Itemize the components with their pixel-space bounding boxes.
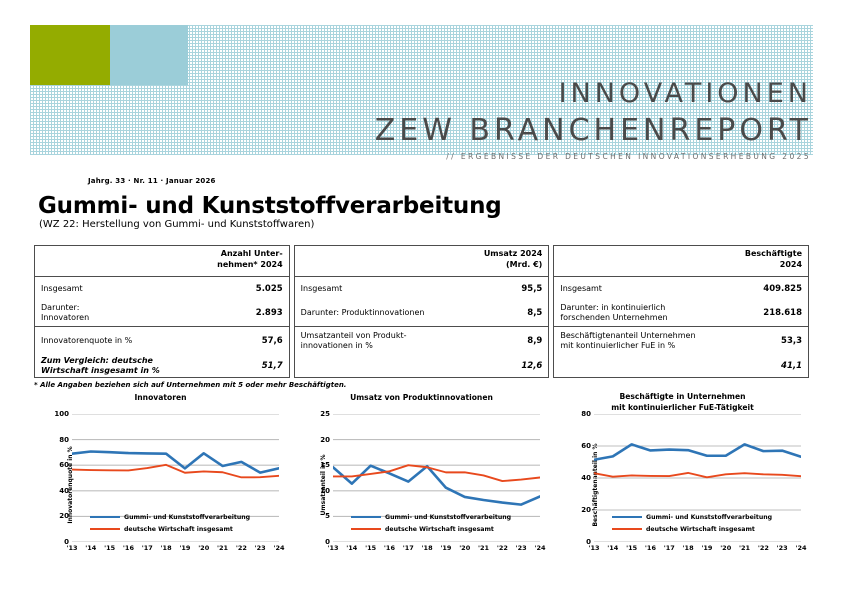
x-axis-tick-label: '14 xyxy=(607,544,618,552)
table-row: Insgesamt 5.025 xyxy=(35,277,289,300)
issue-line: Jahrg. 33 · Nr. 11 · Januar 2026 xyxy=(88,177,216,185)
table-row: Darunter: Produktinnovationen 8,5 xyxy=(295,300,549,326)
header-title-branchenreport: ZEW BRANCHENREPORT xyxy=(375,113,812,148)
charts-row: Innovatoren Innovatorenquote in % 020406… xyxy=(30,392,815,577)
table-row: 12,6 xyxy=(295,354,549,377)
legend-item: Gummi- und Kunststoffverarbeitung xyxy=(351,511,511,523)
x-axis-tick-label: '17 xyxy=(142,544,153,552)
table-cell-label: Innovatorenquote in % xyxy=(41,336,256,346)
table-cell-label: Darunter: Produktinnovationen xyxy=(301,308,522,318)
legend-item: Gummi- und Kunststoffverarbeitung xyxy=(612,511,772,523)
table-cell-label-line2: forschenden Unternehmen xyxy=(560,313,757,323)
summary-table: Anzahl Unter- nehmen* 2024 Insgesamt 5.0… xyxy=(34,245,809,378)
table-cell-label-line2: Wirtschaft insgesamt in % xyxy=(41,366,256,376)
y-axis-tick-label: 60 xyxy=(581,442,591,450)
x-axis-tick-label: '18 xyxy=(161,544,172,552)
table-row: Darunter: in kontinuierlich forschenden … xyxy=(554,300,808,326)
legend-item: deutsche Wirtschaft insgesamt xyxy=(612,523,772,535)
legend-label: Gummi- und Kunststoffverarbeitung xyxy=(385,514,511,521)
table-cell-label-line2: Innovatoren xyxy=(41,313,250,323)
table-header-cell: Umsatz 2024 (Mrd. €) xyxy=(295,246,549,277)
legend-item: deutsche Wirtschaft insgesamt xyxy=(351,523,511,535)
table-cell-value: 2.893 xyxy=(250,308,283,318)
table-cell-value: 8,9 xyxy=(521,336,542,346)
x-axis-tick-label: '23 xyxy=(255,544,266,552)
x-axis-tick-label: '23 xyxy=(777,544,788,552)
table-cell-label: Insgesamt xyxy=(41,284,250,294)
x-axis-tick-label: '20 xyxy=(720,544,731,552)
series-line xyxy=(594,444,801,459)
table-cell-value: 57,6 xyxy=(256,336,283,346)
chart-x-axis: '13'14'15'16'17'18'19'20'21'22'23'24 xyxy=(594,544,801,558)
table-column-umsatz: Umsatz 2024 (Mrd. €) Insgesamt 95,5 Daru… xyxy=(294,245,550,378)
y-axis-tick-label: 20 xyxy=(581,506,591,514)
x-axis-tick-label: '17 xyxy=(403,544,414,552)
x-axis-tick-label: '14 xyxy=(346,544,357,552)
legend-color-swatch xyxy=(612,516,642,519)
table-footnote: * Alle Angaben beziehen sich auf Unterne… xyxy=(34,381,346,389)
table-cell-value: 95,5 xyxy=(515,284,542,294)
table-header-line2: (Mrd. €) xyxy=(484,260,543,271)
y-axis-tick-label: 25 xyxy=(320,410,330,418)
y-axis-tick-label: 40 xyxy=(59,487,69,495)
table-row: Insgesamt 95,5 xyxy=(295,277,549,300)
table-cell-value: 51,7 xyxy=(256,361,283,371)
table-cell-label-line1: Zum Vergleich: deutsche xyxy=(41,356,256,366)
chart-title: Innovatoren xyxy=(30,392,291,403)
table-row: Darunter: Innovatoren 2.893 xyxy=(35,300,289,326)
legend-color-swatch xyxy=(351,528,381,531)
x-axis-tick-label: '19 xyxy=(179,544,190,552)
legend-color-swatch xyxy=(90,528,120,531)
table-cell-value: 41,1 xyxy=(775,361,802,371)
chart-title: Umsatz von Produktinnovationen xyxy=(291,392,552,403)
table-cell-label: Insgesamt xyxy=(560,284,757,294)
chart-legend: Gummi- und Kunststoffverarbeitungdeutsch… xyxy=(351,511,511,535)
report-page: INNOVATIONEN ZEW BRANCHENREPORT // ERGEB… xyxy=(0,0,842,595)
table-header-line1: Umsatz 2024 xyxy=(484,249,543,260)
chart-legend: Gummi- und Kunststoffverarbeitungdeutsch… xyxy=(612,511,772,535)
series-line xyxy=(594,473,801,477)
table-cell-value: 12,6 xyxy=(515,361,542,371)
x-axis-tick-label: '13 xyxy=(66,544,77,552)
y-axis-tick-label: 15 xyxy=(320,461,330,469)
x-axis-tick-label: '13 xyxy=(327,544,338,552)
chart-title-line1: Beschäftigte in Unternehmen xyxy=(552,391,813,402)
table-cell-label: Insgesamt xyxy=(301,284,516,294)
table-cell-label-line1: Umsatzanteil von Produkt- xyxy=(301,331,522,341)
table-cell-label-line1: Darunter: in kontinuierlich xyxy=(560,303,757,313)
table-row: Beschäftigtenanteil Unternehmen mit kont… xyxy=(554,327,808,354)
x-axis-tick-label: '16 xyxy=(384,544,395,552)
table-row: Umsatzanteil von Produkt- innovationen i… xyxy=(295,327,549,354)
x-axis-tick-label: '19 xyxy=(701,544,712,552)
x-axis-tick-label: '21 xyxy=(217,544,228,552)
x-axis-tick-label: '24 xyxy=(273,544,284,552)
header-subtitle: // ERGEBNISSE DER DEUTSCHEN INNOVATIONSE… xyxy=(446,152,811,161)
chart-innovatoren: Innovatoren Innovatorenquote in % 020406… xyxy=(30,392,291,577)
table-cell-label-line2: innovationen in % xyxy=(301,341,522,351)
legend-color-swatch xyxy=(351,516,381,519)
logo-square-blue xyxy=(110,25,188,85)
table-cell-value: 409.825 xyxy=(757,284,802,294)
page-title: Gummi- und Kunststoffverarbeitung xyxy=(38,193,502,219)
table-header-line2: nehmen* 2024 xyxy=(217,260,283,271)
table-cell-label-line2: mit kontinuierlicher FuE in % xyxy=(560,341,775,351)
legend-label: deutsche Wirtschaft insgesamt xyxy=(646,526,755,533)
legend-color-swatch xyxy=(612,528,642,531)
logo-square-green xyxy=(30,25,110,85)
x-axis-tick-label: '24 xyxy=(534,544,545,552)
header-title-innovationen: INNOVATIONEN xyxy=(559,78,812,109)
x-axis-tick-label: '15 xyxy=(626,544,637,552)
table-cell-value: 5.025 xyxy=(250,284,283,294)
x-axis-tick-label: '20 xyxy=(198,544,209,552)
x-axis-tick-label: '14 xyxy=(85,544,96,552)
table-header-line1: Beschäftigte xyxy=(745,249,802,260)
legend-label: deutsche Wirtschaft insgesamt xyxy=(385,526,494,533)
table-header-cell: Anzahl Unter- nehmen* 2024 xyxy=(35,246,289,277)
y-axis-tick-label: 60 xyxy=(59,461,69,469)
x-axis-tick-label: '18 xyxy=(683,544,694,552)
chart-umsatz-produktinnovationen: Umsatz von Produktinnovationen Umsatzant… xyxy=(291,392,552,577)
table-cell-label-line1: Beschäftigtenanteil Unternehmen xyxy=(560,331,775,341)
table-header-cell: Beschäftigte 2024 xyxy=(554,246,808,277)
legend-label: Gummi- und Kunststoffverarbeitung xyxy=(646,514,772,521)
legend-label: deutsche Wirtschaft insgesamt xyxy=(124,526,233,533)
x-axis-tick-label: '18 xyxy=(422,544,433,552)
legend-color-swatch xyxy=(90,516,120,519)
y-axis-tick-label: 5 xyxy=(325,512,330,520)
table-column-unternehmen: Anzahl Unter- nehmen* 2024 Insgesamt 5.0… xyxy=(34,245,290,378)
table-cell-value: 8,5 xyxy=(521,308,542,318)
x-axis-tick-label: '22 xyxy=(236,544,247,552)
series-line xyxy=(333,466,540,505)
x-axis-tick-label: '19 xyxy=(440,544,451,552)
x-axis-tick-label: '17 xyxy=(664,544,675,552)
x-axis-tick-label: '24 xyxy=(795,544,806,552)
y-axis-tick-label: 80 xyxy=(581,410,591,418)
table-cell-label-line1: Darunter: xyxy=(41,303,250,313)
x-axis-tick-label: '21 xyxy=(478,544,489,552)
table-cell-value: 218.618 xyxy=(757,308,802,318)
legend-item: Gummi- und Kunststoffverarbeitung xyxy=(90,511,250,523)
page-header: INNOVATIONEN ZEW BRANCHENREPORT // ERGEB… xyxy=(0,0,842,160)
table-row: Zum Vergleich: deutsche Wirtschaft insge… xyxy=(35,354,289,377)
x-axis-tick-label: '22 xyxy=(497,544,508,552)
chart-legend: Gummi- und Kunststoffverarbeitungdeutsch… xyxy=(90,511,250,535)
table-column-beschaeftigte: Beschäftigte 2024 Insgesamt 409.825 Daru… xyxy=(553,245,809,378)
y-axis-tick-label: 100 xyxy=(54,410,69,418)
table-row: Insgesamt 409.825 xyxy=(554,277,808,300)
table-header-line1: Anzahl Unter- xyxy=(217,249,283,260)
x-axis-tick-label: '16 xyxy=(645,544,656,552)
y-axis-tick-label: 80 xyxy=(59,436,69,444)
chart-x-axis: '13'14'15'16'17'18'19'20'21'22'23'24 xyxy=(333,544,540,558)
x-axis-tick-label: '16 xyxy=(123,544,134,552)
x-axis-tick-label: '15 xyxy=(104,544,115,552)
x-axis-tick-label: '22 xyxy=(758,544,769,552)
x-axis-tick-label: '20 xyxy=(459,544,470,552)
y-axis-tick-label: 40 xyxy=(581,474,591,482)
table-row: Innovatorenquote in % 57,6 xyxy=(35,327,289,354)
y-axis-tick-label: 20 xyxy=(59,512,69,520)
legend-label: Gummi- und Kunststoffverarbeitung xyxy=(124,514,250,521)
table-header-line2: 2024 xyxy=(745,260,802,271)
x-axis-tick-label: '13 xyxy=(588,544,599,552)
y-axis-tick-label: 10 xyxy=(320,487,330,495)
chart-title-line1: Umsatz von Produktinnovationen xyxy=(291,392,552,403)
page-subtitle: (WZ 22: Herstellung von Gummi- und Kunst… xyxy=(39,219,314,230)
legend-item: deutsche Wirtschaft insgesamt xyxy=(90,523,250,535)
chart-x-axis: '13'14'15'16'17'18'19'20'21'22'23'24 xyxy=(72,544,279,558)
x-axis-tick-label: '23 xyxy=(516,544,527,552)
table-cell-value: 53,3 xyxy=(775,336,802,346)
chart-title-line1: Innovatoren xyxy=(30,392,291,403)
y-axis-tick-label: 20 xyxy=(320,436,330,444)
x-axis-tick-label: '15 xyxy=(365,544,376,552)
x-axis-tick-label: '21 xyxy=(739,544,750,552)
chart-beschaeftigte-fue: Beschäftigte in Unternehmen mit kontinui… xyxy=(552,392,813,577)
table-row: 41,1 xyxy=(554,354,808,377)
